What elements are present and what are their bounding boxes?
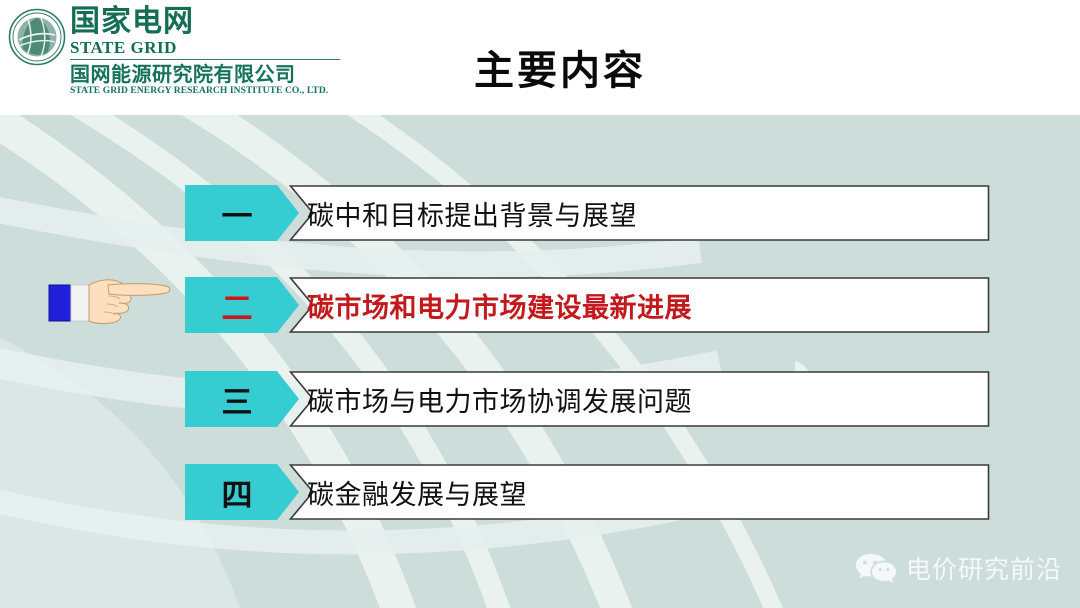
contents-item-label: 碳市场与电力市场协调发展问题 [307,371,977,427]
contents-item-label: 碳市场和电力市场建设最新进展 [307,277,977,333]
contents-item-number: 四 [185,464,290,520]
contents-item-4[interactable]: 四 碳金融发展与展望 [185,464,990,520]
contents-item-3[interactable]: 三 碳市场与电力市场协调发展问题 [185,371,990,427]
pointing-hand-right-icon [48,269,180,331]
page-title: 主要内容 [420,38,700,96]
institute-name-en: STATE GRID ENERGY RESEARCH INSTITUTE CO.… [70,85,350,97]
contents-item-1[interactable]: 一 碳中和目标提出背景与展望 [185,185,990,241]
brand-name-cn: 国家电网 [70,6,350,38]
state-grid-globe-emblem-icon [8,8,66,66]
brand-name-en: STATE GRID [70,38,350,57]
contents-item-number: 一 [185,185,290,241]
wechat-icon [855,552,897,584]
brand-text-block: 国家电网 STATE GRID 国网能源研究院有限公司 STATE GRID E… [70,6,350,97]
contents-item-number: 三 [185,371,290,427]
contents-item-number: 二 [185,277,290,333]
contents-item-label: 碳中和目标提出背景与展望 [307,185,977,241]
contents-list: 一 碳中和目标提出背景与展望 二 碳市场和电力市场建设最新进展 三 碳市场与电力… [0,115,1080,608]
brand-divider [70,59,340,60]
institute-name-cn: 国网能源研究院有限公司 [70,63,350,85]
contents-item-label: 碳金融发展与展望 [307,464,977,520]
watermark: 电价研究前沿 [855,550,1062,586]
slide-header: 国家电网 STATE GRID 国网能源研究院有限公司 STATE GRID E… [0,0,1080,115]
watermark-text: 电价研究前沿 [906,550,1062,586]
contents-item-2[interactable]: 二 碳市场和电力市场建设最新进展 [185,277,990,333]
slide-root: 国家电网 STATE GRID 国网能源研究院有限公司 STATE GRID E… [0,0,1080,608]
